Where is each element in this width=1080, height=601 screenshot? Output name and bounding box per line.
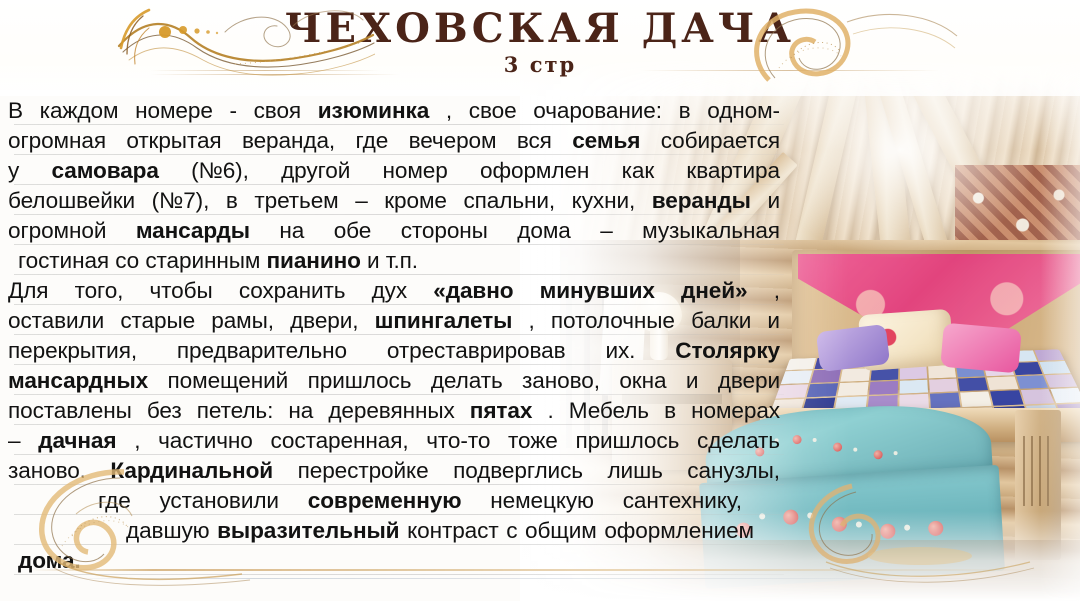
quilt-patch: [987, 376, 1018, 390]
word: отреставрировав: [387, 336, 566, 366]
word: в: [679, 96, 691, 126]
word: ,: [529, 306, 535, 336]
word: -: [229, 96, 236, 126]
word: перекрытия,: [8, 336, 137, 366]
quilt-patch: [838, 382, 869, 396]
word: немецкую: [490, 486, 594, 516]
emphasised-word: семья: [572, 126, 640, 156]
word: установили: [159, 486, 278, 516]
word: поставлены: [8, 396, 132, 426]
word: собирается: [661, 126, 780, 156]
word: свое: [469, 96, 517, 126]
word: контраст: [407, 516, 499, 546]
title-block: ЧЕХОВСКАЯ ДАЧА 3 стр: [0, 8, 1080, 77]
emphasised-word: дачная: [38, 426, 116, 456]
word: другой: [281, 156, 350, 186]
word: стороны: [401, 216, 488, 246]
bed-post: [1015, 410, 1061, 560]
text-line: мансардныхпомещенийпришлосьделатьзаново,…: [8, 366, 784, 396]
word: без: [147, 396, 182, 426]
word: заново,: [522, 366, 600, 396]
word: дома: [517, 216, 570, 246]
text-line: давшуювыразительныйконтрастсобщимоформле…: [8, 516, 784, 546]
pillow: [816, 324, 890, 372]
word: кухни,: [572, 186, 636, 216]
word: потолочные: [551, 306, 675, 336]
word: музыкальная: [642, 216, 780, 246]
footer-rule-grey: [55, 578, 1035, 579]
word: спальни,: [463, 186, 555, 216]
word: балки: [691, 306, 751, 336]
page-number-label: 3 стр: [0, 52, 1080, 77]
text-line: оставилистарыерамы,двери,шпингалеты,пото…: [8, 306, 784, 336]
word: –: [600, 216, 612, 246]
quilt-patch: [869, 381, 898, 395]
word: давшую: [126, 516, 210, 546]
word: состаренная,: [270, 426, 408, 456]
word: частично: [158, 426, 253, 456]
word: где: [355, 126, 388, 156]
word: веранда,: [242, 126, 335, 156]
word: вечером: [409, 126, 497, 156]
word: с: [506, 516, 517, 546]
quilt-patch: [990, 390, 1023, 405]
word: белошвейки: [8, 186, 135, 216]
emphasised-word: Кардинальной: [110, 456, 273, 486]
word: номерах: [691, 396, 780, 426]
quilt-patch: [899, 380, 928, 394]
word: их.: [605, 336, 635, 366]
slide-root: ЧЕХОВСКАЯ ДАЧА 3 стр: [0, 0, 1080, 601]
quilt-patch: [958, 377, 988, 391]
word: обе: [334, 216, 372, 246]
emphasised-word: «давно: [433, 276, 513, 306]
quilt-patch: [1020, 389, 1054, 404]
text-line: Длятого,чтобысохранитьдух«давноминувшихд…: [8, 276, 784, 306]
emphasised-text: пианино: [266, 248, 360, 273]
word: квартира: [686, 156, 780, 186]
word: очарование:: [533, 96, 662, 126]
word: кроме: [384, 186, 447, 216]
quilt-patch: [1039, 361, 1070, 374]
word: как: [622, 156, 655, 186]
word: огромной: [8, 216, 106, 246]
word: –: [8, 426, 20, 456]
text-line: Вкаждомномере-свояизюминка,своеочаровани…: [8, 96, 784, 126]
emphasised-word: самовара: [52, 156, 159, 186]
text-line: огромнаяоткрытаяверанда,гдевечеромвсясем…: [8, 126, 784, 156]
text-line: перекрытия,предварительноотреставрировав…: [8, 336, 784, 366]
word: номер: [383, 156, 448, 186]
word: лишь: [607, 456, 662, 486]
word: в: [664, 396, 676, 426]
word: рамы,: [211, 306, 274, 336]
emphasised-word: шпингалеты: [375, 306, 513, 336]
word: общим: [525, 516, 597, 546]
word: в: [226, 186, 238, 216]
text-run: гостиная со старинным: [18, 248, 266, 273]
word: петель:: [197, 396, 274, 426]
word: В: [8, 96, 23, 126]
word: двери,: [290, 306, 358, 336]
word: открытая: [126, 126, 221, 156]
word: двери: [718, 366, 780, 396]
word: оформлением: [604, 516, 754, 546]
word: на: [279, 216, 304, 246]
word: номере: [135, 96, 213, 126]
emphasised-word: мансардных: [8, 366, 148, 396]
word: у: [8, 156, 19, 186]
word: –: [355, 186, 367, 216]
word: Мебель: [569, 396, 649, 426]
word: пришлось: [575, 426, 679, 456]
quilt-patch: [1034, 349, 1064, 361]
word: и: [767, 186, 780, 216]
text-line: гостиная со старинным пианино и т.п.: [8, 246, 784, 276]
quilt-patch: [807, 383, 839, 397]
word: тоже: [508, 426, 558, 456]
emphasised-word: минувших: [540, 276, 655, 306]
word: окна: [619, 366, 666, 396]
quilt-patch: [929, 378, 958, 392]
emphasised-word: веранды: [652, 186, 751, 216]
word: дух: [372, 276, 407, 306]
slide-header: ЧЕХОВСКАЯ ДАЧА 3 стр: [0, 0, 1080, 96]
word: ,: [446, 96, 452, 126]
word: санузлы,: [687, 456, 780, 486]
quilt-patch: [786, 358, 816, 370]
text-line: –дачная,частичносостаренная,что-тотожепр…: [8, 426, 784, 456]
page-title: ЧЕХОВСКАЯ ДАЧА: [0, 8, 1080, 50]
word: одном-: [707, 96, 780, 126]
word: предварительно: [177, 336, 347, 366]
quilt-patch: [1050, 388, 1080, 403]
word: что-то: [426, 426, 490, 456]
word: .: [547, 396, 553, 426]
word: перестройке: [298, 456, 429, 486]
text-line: заново.Кардинальнойперестройкеподверглис…: [8, 456, 784, 486]
pillow: [940, 323, 1022, 374]
text-line: поставленыбезпетель:надеревянныхпятах.Ме…: [8, 396, 784, 426]
article-body: Вкаждомномере-свояизюминка,своеочаровани…: [0, 96, 790, 576]
word: третьем: [254, 186, 338, 216]
text-line: огромноймансардынаобестороныдома–музыкал…: [8, 216, 784, 246]
word: подверглись: [453, 456, 583, 486]
emphasised-word: дней»: [681, 276, 748, 306]
word: (№6),: [191, 156, 249, 186]
emphasised-word: мансарды: [136, 216, 250, 246]
footer-rule-gold: [30, 569, 1050, 571]
quilt-patch: [1016, 375, 1048, 389]
word: и: [686, 366, 699, 396]
text-line: усамовара(№6),другойномероформленкакквар…: [8, 156, 784, 186]
word: ,: [134, 426, 140, 456]
text-line: белошвейки(№7),втретьем–кромеспальни,кух…: [8, 186, 784, 216]
emphasised-word: пятах: [470, 396, 533, 426]
word: и: [767, 306, 780, 336]
text-line: гдеустановилисовременнуюнемецкуюсантехни…: [8, 486, 784, 516]
word: сохранить: [239, 276, 346, 306]
word: на: [288, 396, 313, 426]
text-run: и т.п.: [361, 248, 418, 273]
word: ,: [774, 276, 780, 306]
word: огромная: [8, 126, 106, 156]
quilt-patch: [811, 369, 841, 382]
word: сделать: [697, 426, 780, 456]
word: каждом: [40, 96, 119, 126]
word: (№7),: [152, 186, 210, 216]
word: оформлен: [480, 156, 589, 186]
word: вся: [517, 126, 552, 156]
word: деревянных: [328, 396, 454, 426]
word: того,: [75, 276, 124, 306]
emphasised-word: выразительный: [217, 516, 399, 546]
word: помещений: [168, 366, 289, 396]
text-line: дома.: [8, 546, 784, 576]
quilt-patch: [841, 368, 870, 381]
emphasised-word: современную: [308, 486, 462, 516]
word: оставили: [8, 306, 104, 336]
word: старые: [120, 306, 195, 336]
word: где: [98, 486, 131, 516]
word: заново.: [8, 456, 86, 486]
word: сантехнику,: [623, 486, 742, 516]
word: чтобы: [150, 276, 213, 306]
emphasised-word: изюминка: [318, 96, 429, 126]
word: своя: [254, 96, 301, 126]
word: пришлось: [308, 366, 412, 396]
quilt-patch: [900, 366, 927, 379]
emphasised-word: Столярку: [675, 336, 780, 366]
word: Для: [8, 276, 48, 306]
quilt-patch: [1044, 374, 1077, 388]
word: делать: [431, 366, 503, 396]
